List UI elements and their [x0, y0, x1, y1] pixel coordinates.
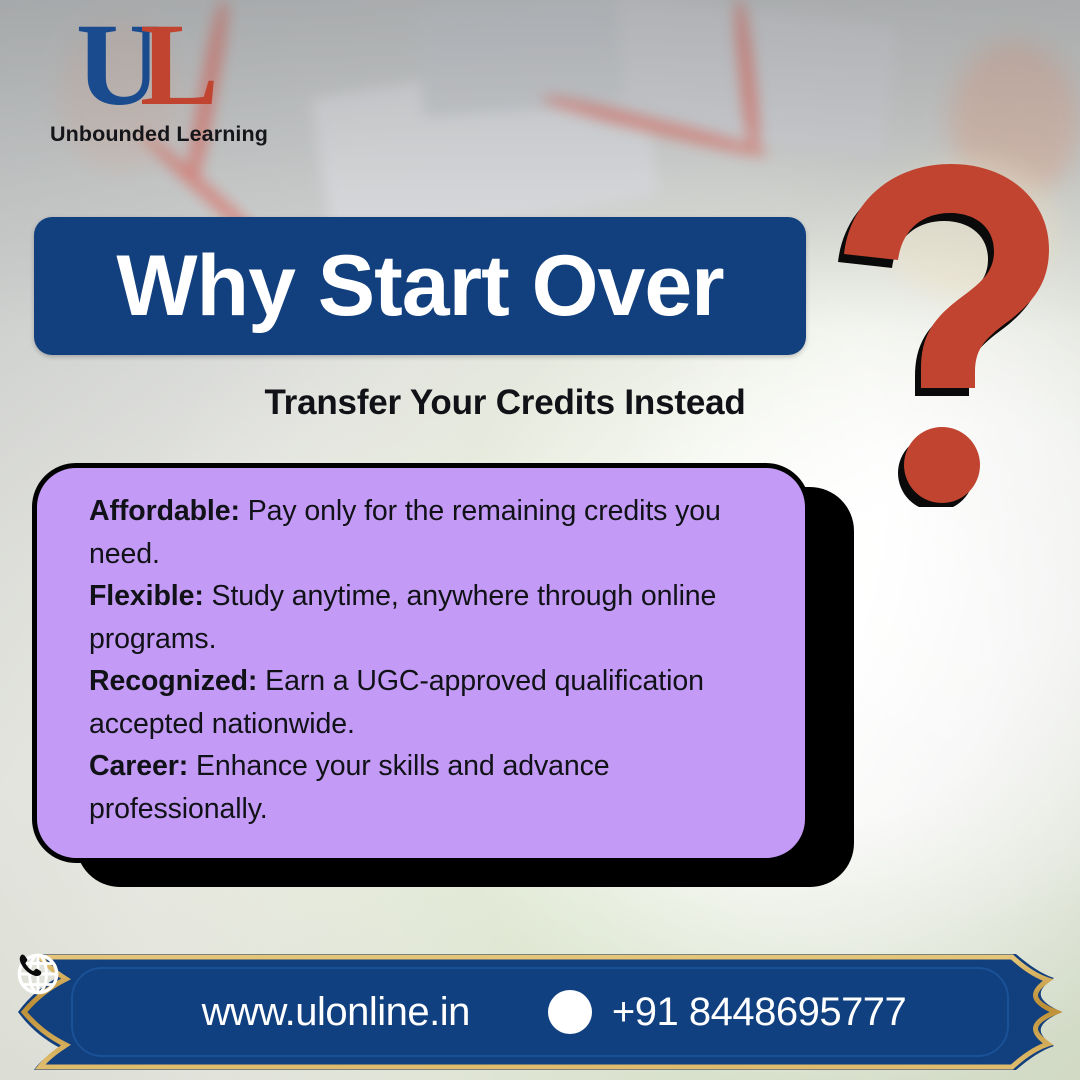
list-item: Recognized: Earn a UGC-approved qualific…: [89, 660, 771, 745]
benefits-card: Affordable: Pay only for the remaining c…: [32, 463, 810, 863]
benefit-term: Flexible:: [89, 580, 204, 612]
brand-logo: U L Unbounded Learning: [34, 18, 284, 147]
benefit-term: Career:: [89, 750, 188, 782]
logo-letter-l: L: [140, 6, 219, 124]
phone-icon: [548, 990, 592, 1034]
list-item: Affordable: Pay only for the remaining c…: [89, 490, 771, 575]
page-title: Why Start Over: [116, 243, 723, 329]
benefit-term: Recognized:: [89, 665, 257, 697]
benefit-term: Affordable:: [89, 495, 240, 527]
website-url[interactable]: www.ulonline.in: [202, 990, 470, 1035]
logo-monogram: U L: [34, 18, 284, 120]
phone-contact[interactable]: +91 8448695777: [548, 990, 906, 1035]
list-item: Career: Enhance your skills and advance …: [89, 745, 771, 830]
phone-number[interactable]: +91 8448695777: [612, 990, 906, 1035]
website-contact[interactable]: www.ulonline.in: [182, 990, 470, 1035]
question-mark-icon: [836, 162, 1068, 507]
headline-banner: Why Start Over: [34, 217, 806, 355]
list-item: Flexible: Study anytime, anywhere throug…: [89, 575, 771, 660]
benefits-list: Affordable: Pay only for the remaining c…: [89, 490, 771, 830]
contact-footer-bar: www.ulonline.in +91 8448695777: [16, 952, 1064, 1072]
